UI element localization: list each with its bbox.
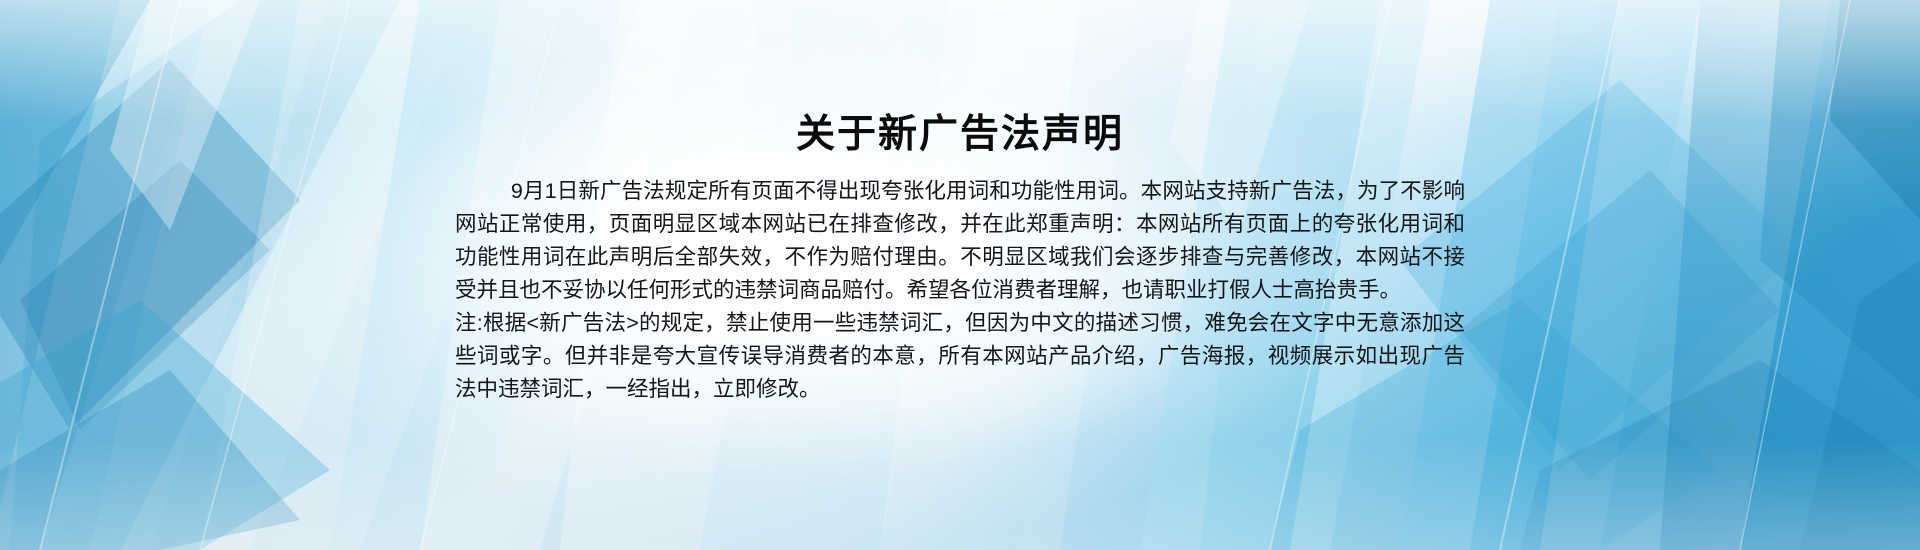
statement-content: 关于新广告法声明 9月1日新广告法规定所有页面不得出现夸张化用词和功能性用词。本… — [0, 0, 1920, 550]
advertising-law-statement-banner: 关于新广告法声明 9月1日新广告法规定所有页面不得出现夸张化用词和功能性用词。本… — [0, 0, 1920, 550]
statement-paragraph-1: 9月1日新广告法规定所有页面不得出现夸张化用词和功能性用词。本网站支持新广告法，… — [455, 175, 1465, 307]
statement-paragraph-2: 注:根据<新广告法>的规定，禁止使用一些违禁词汇，但因为中文的描述习惯，难免会在… — [455, 307, 1465, 406]
page-title: 关于新广告法声明 — [0, 112, 1920, 159]
statement-body: 9月1日新广告法规定所有页面不得出现夸张化用词和功能性用词。本网站支持新广告法，… — [455, 175, 1465, 406]
